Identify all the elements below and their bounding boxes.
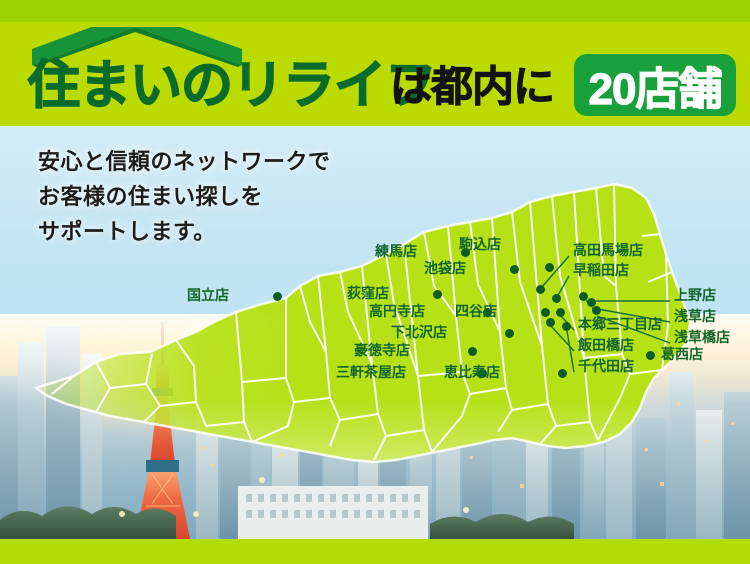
page-title: 住まいのリライフ	[28, 60, 436, 112]
store-label[interactable]: 葛西店	[661, 347, 703, 361]
store-label[interactable]: 駒込店	[459, 237, 501, 251]
store-leader-line	[541, 256, 569, 288]
store-label[interactable]: 恵比寿店	[444, 365, 500, 379]
store-label[interactable]: 四谷店	[455, 304, 497, 318]
store-label[interactable]: 高円寺店	[369, 304, 425, 318]
store-dot[interactable]	[546, 318, 555, 327]
store-label[interactable]: 本郷三丁目店	[578, 317, 662, 331]
store-label[interactable]: 千代田店	[578, 359, 634, 373]
header-band: 住まいのリライフ は都内に 20店舗	[0, 22, 750, 126]
store-dot[interactable]	[556, 308, 565, 317]
store-label[interactable]: 三軒茶屋店	[336, 365, 406, 379]
store-label[interactable]: 池袋店	[424, 261, 466, 275]
promo-banner: 住まいのリライフ は都内に 20店舗	[0, 0, 750, 564]
store-label[interactable]: 下北沢店	[391, 325, 447, 339]
store-label[interactable]: 浅草店	[674, 309, 716, 323]
store-label[interactable]: 国立店	[187, 288, 229, 302]
store-label[interactable]: 荻窪店	[347, 286, 389, 300]
store-dot[interactable]	[510, 265, 519, 274]
stage: 安心と信頼のネットワークで お客様の住まい探しを サポートします。 国立店練馬店…	[0, 126, 750, 564]
lede-copy: 安心と信頼のネットワークで お客様の住まい探しを サポートします。	[38, 144, 331, 249]
store-label[interactable]: 豪徳寺店	[354, 343, 410, 357]
store-label[interactable]: 上野店	[674, 288, 716, 302]
store-dot[interactable]	[592, 306, 601, 315]
tokyo-tower	[135, 322, 190, 539]
store-dot[interactable]	[587, 298, 596, 307]
store-count-badge: 20店舗	[574, 54, 736, 116]
page-title-suffix: は都内に	[390, 66, 554, 108]
store-label[interactable]: 飯田橋店	[578, 338, 634, 352]
store-label[interactable]: 高田馬場店	[573, 243, 643, 257]
store-dot[interactable]	[505, 329, 514, 338]
store-dot[interactable]	[562, 322, 571, 331]
store-label[interactable]: 浅草橋店	[674, 330, 730, 344]
store-dot[interactable]	[558, 369, 567, 378]
footer-strip	[0, 539, 750, 564]
header-top-strip	[0, 0, 750, 22]
store-dot[interactable]	[536, 285, 545, 294]
store-dot[interactable]	[541, 308, 550, 317]
store-label[interactable]: 早稲田店	[573, 263, 629, 277]
store-dot[interactable]	[273, 292, 282, 301]
store-dot[interactable]	[646, 351, 655, 360]
store-dot[interactable]	[433, 290, 442, 299]
store-dot[interactable]	[579, 292, 588, 301]
store-label[interactable]: 練馬店	[375, 244, 417, 258]
store-dot[interactable]	[545, 263, 554, 272]
store-dot[interactable]	[552, 294, 561, 303]
store-count-label: 20店舗	[574, 54, 736, 116]
store-dot[interactable]	[468, 347, 477, 356]
